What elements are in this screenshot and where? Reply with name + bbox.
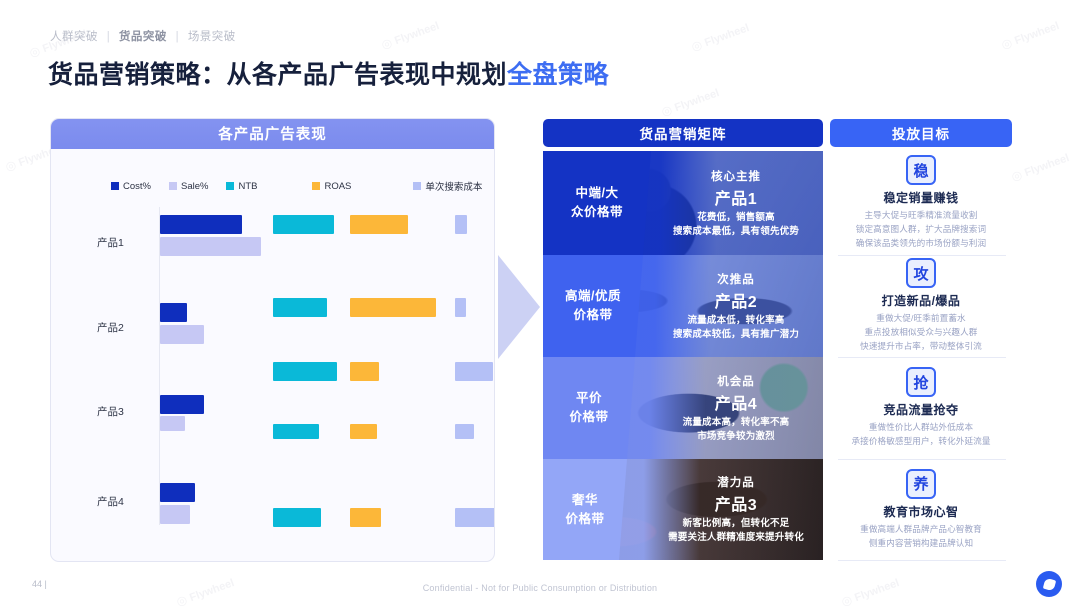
watermark: Flywheel <box>999 18 1060 52</box>
price-band-label: 奢华 价格带 <box>543 459 627 560</box>
matrix-title: 货品营销矩阵 <box>640 123 727 143</box>
matrix-row-desc1: 流量成本高，转化率不高 <box>683 416 790 430</box>
price-band-line2: 价格带 <box>569 408 608 427</box>
bar-roas <box>350 215 408 234</box>
bar-ntb <box>273 508 321 527</box>
goal-line: 重做性价比人群站外低成本 <box>869 421 973 435</box>
goal-item-attack[interactable]: 攻 打造新品/爆品 重做大促/旺季前置蓄水 重点投放相似受众与兴趣人群 快速提升… <box>830 255 1012 357</box>
chart-category-label: 产品4 <box>97 494 155 509</box>
goal-item-nurture[interactable]: 养 教育市场心智 重做高端人群品牌产品心智教育 侧重内容营销构建品牌认知 <box>830 459 1012 560</box>
bar-search-cost <box>455 215 467 234</box>
matrix-row-desc2: 需要关注人群精准度来提升转化 <box>668 531 804 545</box>
matrix-row[interactable]: 奢华 价格带 潜力品 产品3 新客比例高，但转化不足 需要关注人群精准度来提升转… <box>543 459 823 560</box>
matrix-row-product: 产品3 <box>715 491 757 515</box>
legend-swatch-icon <box>169 182 177 190</box>
chart-category-label: 产品2 <box>97 320 155 335</box>
page-title-main: 货品营销策略：从各产品广告表现中规划 <box>48 61 507 89</box>
price-band-label: 中端/大 众价格带 <box>543 151 651 255</box>
price-band-line2: 众价格带 <box>571 203 623 222</box>
legend-item-cost: Cost% <box>111 181 151 192</box>
goal-line: 重点投放相似受众与兴趣人群 <box>864 326 977 340</box>
bar-sale <box>160 325 204 344</box>
legend-label: ROAS <box>324 181 351 192</box>
bar-roas-2 <box>350 424 377 439</box>
breadcrumb-separator: | <box>176 31 180 43</box>
bar-roas <box>350 508 381 527</box>
bar-ntb-2 <box>273 424 319 439</box>
flywheel-logo-icon <box>1036 571 1062 597</box>
bar-search-cost <box>455 362 493 381</box>
goods-marketing-matrix: 中端/大 众价格带 核心主推 产品1 花费低，销售额高 搜索成本最低，具有领先优… <box>543 151 823 560</box>
bar-search-cost-2 <box>455 424 474 439</box>
matrix-row-desc1: 花费低，销售额高 <box>697 211 775 225</box>
goal-line: 承接价格敏感型用户，转化外延流量 <box>851 435 990 449</box>
matrix-row-product: 产品4 <box>715 390 757 414</box>
chart-plot-area: 产品1 产品2 产品3 <box>51 207 494 537</box>
chart-group-product2: 产品2 <box>51 289 494 363</box>
matrix-row-content: 潜力品 产品3 新客比例高，但转化不足 需要关注人群精准度来提升转化 <box>653 459 819 560</box>
chart-category-label: 产品3 <box>97 404 155 419</box>
goal-item-grab[interactable]: 抢 竞品流量抢夺 重做性价比人群站外低成本 承接价格敏感型用户，转化外延流量 <box>830 357 1012 459</box>
page-title: 货品营销策略：从各产品广告表现中规划全盘策略 <box>48 55 609 91</box>
confidential-notice: Confidential - Not for Public Consumptio… <box>0 583 1080 593</box>
legend-swatch-icon <box>312 182 320 190</box>
chart-group-product4: 产品4 <box>51 461 494 535</box>
bar-ntb <box>273 298 327 317</box>
price-band-line1: 高端/优质 <box>565 287 621 306</box>
legend-label: Sale% <box>181 181 208 192</box>
matrix-row-tag: 核心主推 <box>711 168 761 184</box>
legend-item-search-cost: 单次搜索成本 <box>413 179 482 193</box>
bar-search-cost <box>455 508 495 527</box>
goals-divider <box>838 357 1006 358</box>
breadcrumb-item-people[interactable]: 人群突破 <box>50 31 98 43</box>
flow-arrow-icon <box>498 255 540 359</box>
goal-item-stable[interactable]: 稳 稳定销量赚钱 主导大促与旺季精准流量收割 锁定高意图人群，扩大品牌搜索词 确… <box>830 151 1012 255</box>
matrix-row-desc1: 新客比例高，但转化不足 <box>683 517 790 531</box>
legend-swatch-icon <box>111 182 119 190</box>
matrix-row-desc1: 流量成本低，转化率高 <box>687 314 784 328</box>
bar-ntb <box>273 362 337 381</box>
legend-item-sale: Sale% <box>169 181 208 192</box>
legend-label: 单次搜索成本 <box>425 179 482 193</box>
goal-line: 主导大促与旺季精准流量收割 <box>864 209 977 223</box>
bar-cost <box>160 483 195 502</box>
bar-sale <box>160 505 190 524</box>
bar-sale <box>160 237 261 256</box>
chart-group-product3: 产品3 <box>51 371 494 449</box>
watermark: Flywheel <box>659 85 720 119</box>
goals-header: 投放目标 <box>830 119 1012 147</box>
delivery-goals-list: 稳 稳定销量赚钱 主导大促与旺季精准流量收割 锁定高意图人群，扩大品牌搜索词 确… <box>830 151 1012 560</box>
bar-cost <box>160 215 242 234</box>
goal-title: 竞品流量抢夺 <box>883 401 958 418</box>
chart-panel-title: 各产品广告表现 <box>218 123 327 144</box>
goal-icon-grab: 抢 <box>906 367 936 397</box>
goals-title: 投放目标 <box>892 123 950 143</box>
goal-title: 稳定销量赚钱 <box>883 189 958 206</box>
goal-icon-stable: 稳 <box>906 155 936 185</box>
goal-line: 侧重内容营销构建品牌认知 <box>869 537 973 551</box>
goal-line: 锁定高意图人群，扩大品牌搜索词 <box>856 223 986 237</box>
matrix-row-tag: 潜力品 <box>717 474 755 490</box>
breadcrumb-separator: | <box>107 31 111 43</box>
breadcrumb-item-scene[interactable]: 场景突破 <box>188 31 236 43</box>
slide-root: Flywheel Flywheel Flywheel Flywheel Flyw… <box>0 0 1080 607</box>
price-band-line1: 平价 <box>576 389 602 408</box>
matrix-header: 货品营销矩阵 <box>543 119 823 147</box>
matrix-row-product: 产品1 <box>715 185 757 209</box>
matrix-row-content: 机会品 产品4 流量成本高，转化率不高 市场竞争较为激烈 <box>653 357 819 459</box>
goal-line: 快速提升市占率，带动整体引流 <box>860 340 982 354</box>
goals-divider <box>838 255 1006 256</box>
matrix-row-desc2: 搜索成本最低，具有领先优势 <box>673 225 799 239</box>
watermark: Flywheel <box>379 18 440 52</box>
watermark: Flywheel <box>689 20 750 54</box>
price-band-line2: 价格带 <box>573 306 612 325</box>
goal-line: 重做大促/旺季前置蓄水 <box>876 312 965 326</box>
bar-roas <box>350 298 436 317</box>
price-band-line2: 价格带 <box>565 510 604 529</box>
chart-legend: Cost% Sale% NTB ROAS 单次搜索成本 <box>59 179 489 193</box>
price-band-line1: 中端/大 <box>576 184 619 203</box>
chart-category-label: 产品1 <box>97 235 155 250</box>
matrix-row-content: 核心主推 产品1 花费低，销售额高 搜索成本最低，具有领先优势 <box>653 151 819 255</box>
matrix-row-tag: 机会品 <box>717 373 755 389</box>
bar-roas <box>350 362 379 381</box>
legend-label: NTB <box>238 181 257 192</box>
price-band-label: 高端/优质 价格带 <box>543 255 643 357</box>
price-band-line1: 奢华 <box>572 491 598 510</box>
goal-line: 确保该品类领先的市场份额与利润 <box>856 237 986 251</box>
matrix-row-desc2: 市场竞争较为激烈 <box>697 430 775 444</box>
legend-label: Cost% <box>123 181 151 192</box>
chart-group-product1: 产品1 <box>51 207 494 281</box>
chart-panel-header: 各产品广告表现 <box>50 118 495 149</box>
breadcrumb: 人群突破 | 货品突破 | 场景突破 <box>50 28 236 44</box>
bar-cost <box>160 395 204 414</box>
matrix-row-tag: 次推品 <box>717 271 755 287</box>
legend-swatch-icon <box>226 182 234 190</box>
watermark: Flywheel <box>1009 150 1070 184</box>
goal-icon-attack: 攻 <box>906 258 936 288</box>
bar-cost <box>160 303 187 322</box>
breadcrumb-item-goods[interactable]: 货品突破 <box>119 31 167 43</box>
matrix-row-content: 次推品 产品2 流量成本低，转化率高 搜索成本较低，具有推广潜力 <box>653 255 819 357</box>
goal-icon-nurture: 养 <box>906 469 936 499</box>
matrix-row-product: 产品2 <box>715 288 757 312</box>
page-title-highlight: 全盘策略 <box>507 61 609 89</box>
matrix-row[interactable]: 平价 价格带 机会品 产品4 流量成本高，转化率不高 市场竞争较为激烈 <box>543 357 823 459</box>
legend-swatch-icon <box>413 182 421 190</box>
bar-search-cost <box>455 298 466 317</box>
goal-title: 打造新品/爆品 <box>882 292 961 309</box>
price-band-label: 平价 价格带 <box>543 357 635 459</box>
bar-sale <box>160 416 185 431</box>
matrix-row[interactable]: 中端/大 众价格带 核心主推 产品1 花费低，销售额高 搜索成本最低，具有领先优… <box>543 151 823 255</box>
goal-title: 教育市场心智 <box>883 503 958 520</box>
ad-performance-chart-panel: 各产品广告表现 Cost% Sale% NTB ROAS 单次搜索成本 <box>50 118 495 562</box>
goal-line: 重做高端人群品牌产品心智教育 <box>860 523 982 537</box>
matrix-row[interactable]: 高端/优质 价格带 次推品 产品2 流量成本低，转化率高 搜索成本较低，具有推广… <box>543 255 823 357</box>
matrix-row-desc2: 搜索成本较低，具有推广潜力 <box>673 328 799 342</box>
legend-item-roas: ROAS <box>312 181 351 192</box>
goals-divider <box>838 459 1006 460</box>
legend-item-ntb: NTB <box>226 181 257 192</box>
goals-divider <box>838 560 1006 561</box>
bar-ntb <box>273 215 334 234</box>
